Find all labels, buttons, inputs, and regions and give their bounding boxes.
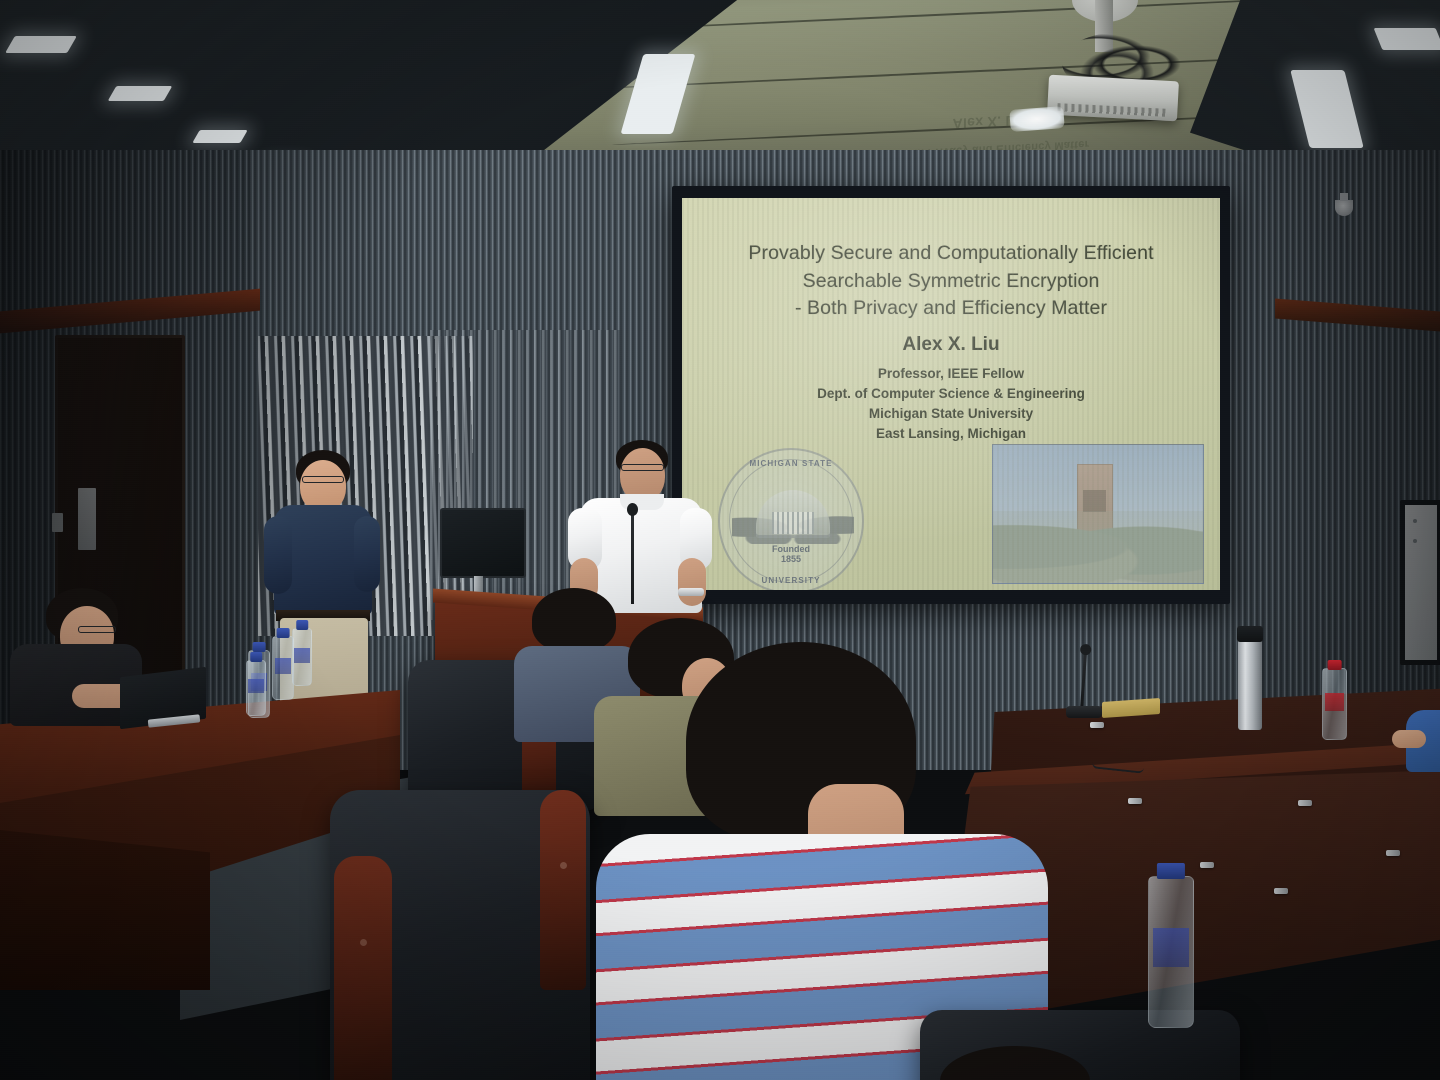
- chair-armrest: [334, 856, 392, 1080]
- affiliation-line-3: Michigan State University: [682, 404, 1220, 424]
- slide-title-line-2: Searchable Symmetric Encryption: [682, 268, 1220, 296]
- podium-monitor: [440, 508, 526, 578]
- ceiling-light: [1374, 28, 1440, 50]
- table-cable-port[interactable]: [1386, 850, 1400, 856]
- seal-top-arc: MICHIGAN STATE: [749, 459, 832, 468]
- seal-founded-label: Founded: [720, 544, 862, 554]
- slide-affiliation: Professor, IEEE Fellow Dept. of Computer…: [682, 364, 1220, 444]
- table-cable-port[interactable]: [1298, 800, 1312, 806]
- bottle-right-red: [1322, 668, 1347, 740]
- slide-title-line-1: Provably Secure and Computationally Effi…: [682, 240, 1220, 268]
- attendee-front-edge-hair: [940, 1046, 1090, 1080]
- bottle-foreground: [1148, 876, 1194, 1028]
- affiliation-line-4: East Lansing, Michigan: [682, 424, 1220, 444]
- host-glasses-icon: [302, 476, 344, 483]
- speaker-forearm-right: [678, 558, 706, 606]
- bottle-table-left-3: [292, 628, 312, 686]
- light-switch[interactable]: [52, 513, 63, 532]
- bottle-attendee-laptop: [246, 660, 266, 716]
- table-cable-port[interactable]: [1090, 722, 1104, 728]
- slide-title-line-3: - Both Privacy and Efficiency Matter: [682, 295, 1220, 323]
- thermos: [1238, 638, 1262, 730]
- seal-founded-year: 1855: [720, 554, 862, 564]
- chair-armrest: [540, 790, 586, 990]
- speaker-glasses-icon: [621, 464, 664, 471]
- attendee-blue-arm: [1392, 730, 1426, 748]
- slide-presenter-name: Alex X. Liu: [682, 334, 1220, 356]
- table-cable-port[interactable]: [1274, 888, 1288, 894]
- ceiling-light: [108, 86, 173, 101]
- host-arm-left: [264, 516, 292, 594]
- person-attendee-front-edge: [940, 1046, 1100, 1080]
- table-cable-port[interactable]: [1128, 798, 1142, 804]
- attendee-laptop-glasses-icon: [78, 626, 116, 633]
- host-arm-right: [354, 516, 380, 592]
- whiteboard[interactable]: [1400, 500, 1440, 665]
- seal-bottom-arc: UNIVERSITY: [761, 576, 820, 585]
- person-attendee-blue: [1392, 700, 1440, 780]
- ceiling-light: [5, 36, 77, 53]
- campus-photo: [992, 444, 1204, 584]
- table-microphone-base: [1066, 706, 1102, 718]
- door-sign: [78, 488, 96, 550]
- ceiling-light: [192, 130, 248, 143]
- projector: [1047, 75, 1179, 122]
- seal-arc-text: MICHIGAN STATE UNIVERSITY: [720, 450, 862, 590]
- speaker-wristwatch: [678, 588, 704, 596]
- left-table-leg-panel: [0, 830, 210, 990]
- slide-title: Provably Secure and Computationally Effi…: [682, 240, 1220, 323]
- projector-beam-glare: [1009, 106, 1064, 132]
- affiliation-line-2: Dept. of Computer Science & Engineering: [682, 384, 1220, 404]
- table-cable-port[interactable]: [1200, 862, 1214, 868]
- seal-founded-text: Founded 1855: [720, 544, 862, 565]
- security-camera-icon: [1335, 200, 1353, 216]
- projection-screen: Provably Secure and Computationally Effi…: [672, 186, 1230, 604]
- slide-surface: Provably Secure and Computationally Effi…: [682, 198, 1220, 590]
- michigan-state-seal-icon: MICHIGAN STATE UNIVERSITY Founded 1855: [718, 448, 864, 590]
- presentation-room-scene: Provably Secure and Computationally Effi…: [0, 0, 1440, 1080]
- affiliation-line-1: Professor, IEEE Fellow: [682, 364, 1220, 384]
- bottle-table-left-2: [272, 636, 294, 700]
